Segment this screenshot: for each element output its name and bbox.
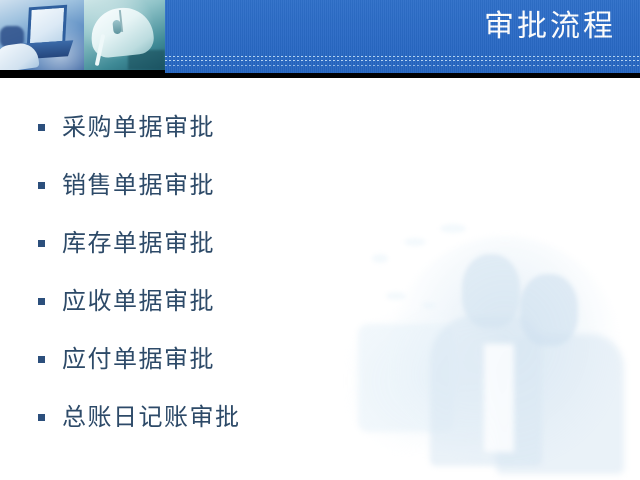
- list-item-label: 应付单据审批: [62, 344, 215, 374]
- list-item-label: 采购单据审批: [62, 112, 215, 142]
- list-item-label: 总账日记账审批: [62, 402, 241, 432]
- square-bullet-icon: [38, 414, 45, 421]
- header-rule-line: [165, 60, 640, 61]
- computer-mouse-photo: [84, 0, 165, 70]
- header-rule-line: [165, 56, 640, 57]
- header-blue-band: 审批流程: [165, 0, 640, 73]
- laptop-screen-shape: [30, 8, 64, 43]
- list-item[interactable]: 销售单据审批: [0, 156, 640, 214]
- list-item[interactable]: 总账日记账审批: [0, 388, 640, 446]
- list-item[interactable]: 采购单据审批: [0, 98, 640, 156]
- list-item-label: 销售单据审批: [62, 170, 215, 200]
- square-bullet-icon: [38, 240, 45, 247]
- list-item[interactable]: 库存单据审批: [0, 214, 640, 272]
- slide: 审批流程 采购单据审批 销售单据审批 库存单据审批 应收单据审批 应付单据审批 …: [0, 0, 640, 480]
- list-item-label: 应收单据审批: [62, 286, 215, 316]
- list-item[interactable]: 应收单据审批: [0, 272, 640, 330]
- header-rule-line: [165, 65, 640, 66]
- slide-header: 审批流程: [0, 0, 640, 78]
- list-item[interactable]: 应付单据审批: [0, 330, 640, 388]
- square-bullet-icon: [38, 298, 45, 305]
- square-bullet-icon: [38, 182, 45, 189]
- page-title: 审批流程: [484, 5, 616, 49]
- list-item-label: 库存单据审批: [62, 228, 215, 258]
- mouse-scroll-wheel: [112, 20, 121, 35]
- square-bullet-icon: [38, 356, 45, 363]
- square-bullet-icon: [38, 124, 45, 131]
- laptop-computer-photo: [0, 0, 84, 70]
- bullet-list: 采购单据审批 销售单据审批 库存单据审批 应收单据审批 应付单据审批 总账日记账…: [0, 98, 640, 446]
